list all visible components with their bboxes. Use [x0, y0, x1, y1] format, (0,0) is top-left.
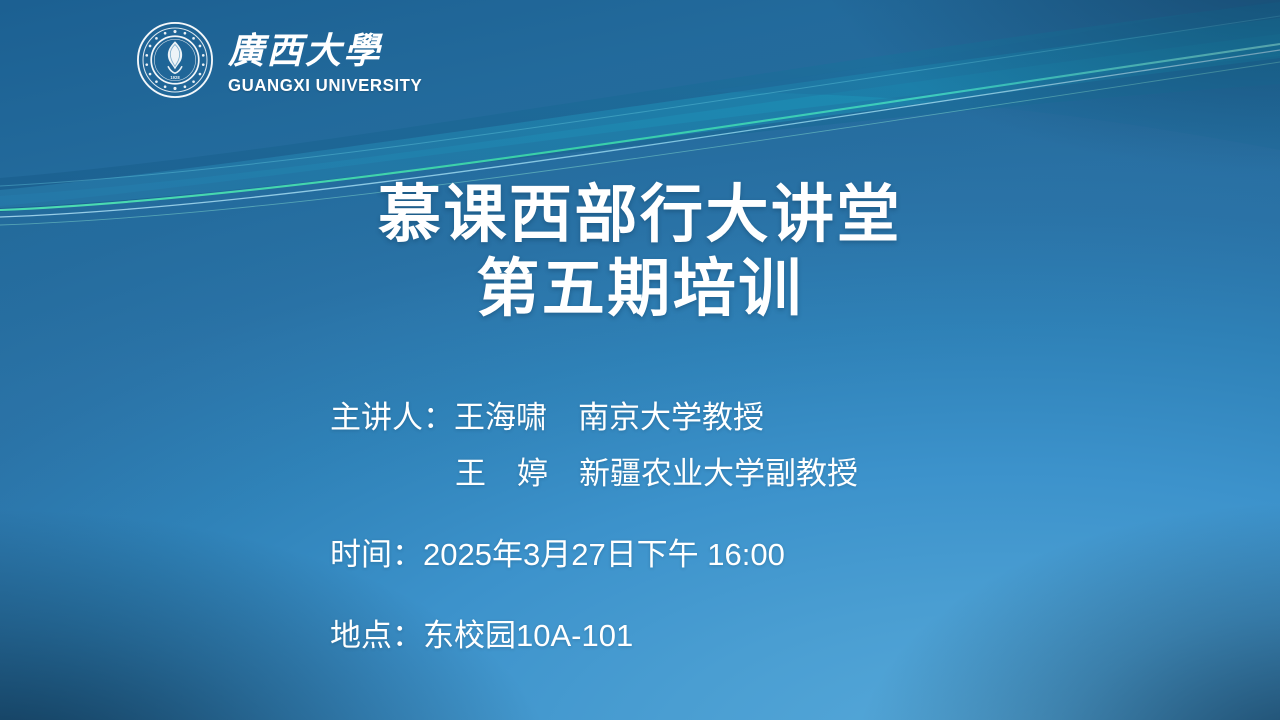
presentation-slide: 1928 廣西大學 GUANGXI UNIVERSITY 慕课西部行大讲堂 第五… — [0, 0, 1280, 720]
event-time: 时间：2025年3月27日下午 16:00 — [330, 539, 1210, 570]
event-details: 主讲人：王海啸 南京大学教授 王 婷 新疆农业大学副教授 时间：2025年3月2… — [330, 402, 1210, 651]
university-name-cn-icon: 廣西大學 — [228, 28, 404, 74]
university-name-en: GUANGXI UNIVERSITY — [228, 77, 422, 95]
page-title: 慕课西部行大讲堂 第五期培训 — [0, 178, 1280, 327]
university-name-cn-text: 廣西大學 — [228, 31, 384, 71]
logo-wordmark: 廣西大學 GUANGXI UNIVERSITY — [228, 26, 430, 95]
university-seal-icon: 1928 — [136, 21, 214, 99]
speaker-line-primary: 主讲人：王海啸 南京大学教授 — [330, 402, 1210, 433]
speaker-line-secondary: 王 婷 新疆农业大学副教授 — [455, 458, 1210, 489]
title-line-1: 慕课西部行大讲堂 — [0, 178, 1280, 252]
svg-text:1928: 1928 — [170, 75, 180, 80]
event-location: 地点：东校园10A-101 — [330, 620, 1210, 651]
title-line-2: 第五期培训 — [0, 252, 1280, 326]
university-logo: 1928 廣西大學 GUANGXI UNIVERSITY — [136, 18, 430, 102]
